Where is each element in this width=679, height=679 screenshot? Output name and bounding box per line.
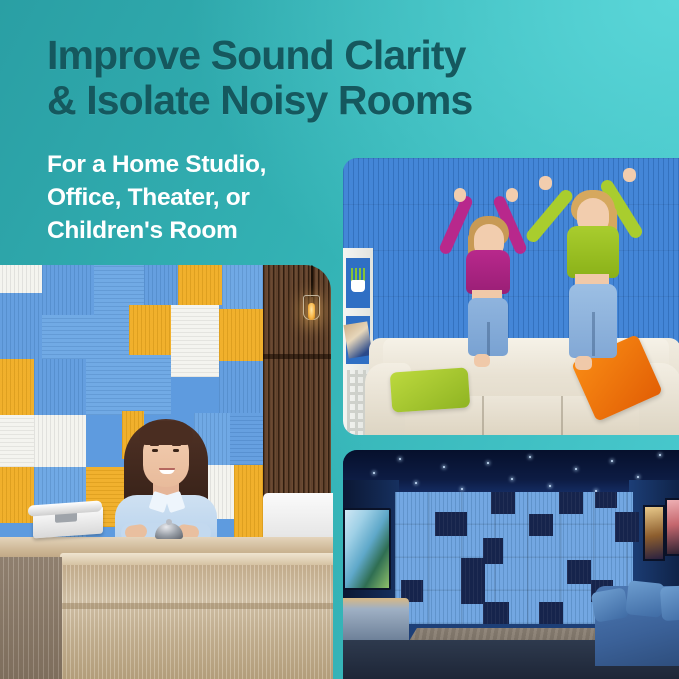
wall-mounted-tv xyxy=(343,508,391,590)
hero-text-block: Improve Sound Clarity & Isolate Noisy Ro… xyxy=(47,33,647,247)
dark-acoustic-tile xyxy=(491,492,515,514)
receptionist-fringe xyxy=(139,421,193,445)
ceiling-star xyxy=(399,458,401,460)
child-jeans xyxy=(569,284,617,358)
sofa-cushion xyxy=(660,585,679,621)
shelf-plant-pot xyxy=(351,280,365,292)
child-magenta-top xyxy=(466,250,510,294)
dark-acoustic-tile xyxy=(483,602,509,624)
reception-desk-ledge xyxy=(60,553,333,565)
dark-acoustic-tile xyxy=(539,602,563,624)
ceiling-star xyxy=(443,466,445,468)
ceiling-star xyxy=(575,468,577,470)
acoustic-tile xyxy=(129,305,171,355)
movie-poster xyxy=(665,498,679,556)
green-pillow xyxy=(390,367,471,412)
dark-acoustic-tile xyxy=(435,512,467,536)
sofa-cushion xyxy=(625,580,664,618)
ceiling-star xyxy=(373,472,375,474)
wood-column-seam xyxy=(263,354,331,359)
sofa-cushion xyxy=(591,587,630,622)
receptionist-eye xyxy=(152,449,158,452)
pendant-lamp-cord xyxy=(311,265,313,297)
page-subtitle: For a Home Studio, Office, Theater, or C… xyxy=(47,148,647,247)
ceiling-star xyxy=(415,482,417,484)
acoustic-tile xyxy=(234,465,263,537)
office-reception-photo xyxy=(0,265,333,679)
acoustic-tile xyxy=(34,415,86,467)
dark-acoustic-tile xyxy=(595,492,617,508)
acoustic-tile xyxy=(42,315,129,359)
acoustic-tile xyxy=(86,355,171,415)
child-jeans xyxy=(468,298,508,356)
ceiling-star xyxy=(511,478,513,480)
receptionist-eyebrow xyxy=(150,444,159,446)
page-title: Improve Sound Clarity & Isolate Noisy Ro… xyxy=(47,33,647,123)
dark-acoustic-tile xyxy=(567,560,591,584)
home-theater-photo xyxy=(343,450,679,679)
acoustic-tile xyxy=(230,413,263,465)
acoustic-tile xyxy=(222,265,264,313)
child-foot xyxy=(575,356,592,370)
dark-acoustic-tile xyxy=(559,492,583,514)
media-console xyxy=(343,598,409,640)
acoustic-tile xyxy=(178,265,222,305)
movie-poster xyxy=(643,505,665,561)
acoustic-tile xyxy=(0,293,42,359)
acoustic-tile xyxy=(0,359,34,415)
receptionist-eye xyxy=(173,449,179,452)
dark-acoustic-tile xyxy=(483,538,503,564)
ceiling-star xyxy=(529,456,531,458)
office-floor xyxy=(0,557,62,679)
acoustic-tile xyxy=(219,361,263,415)
acoustic-tile xyxy=(34,359,86,415)
dark-acoustic-tile xyxy=(461,558,485,604)
ceiling-star xyxy=(461,488,463,490)
acoustic-tile xyxy=(219,309,263,361)
dark-acoustic-tile xyxy=(529,514,553,536)
reception-monitor xyxy=(263,493,333,541)
receptionist-eyebrow xyxy=(172,444,181,446)
acoustic-tile xyxy=(171,305,219,377)
child-foot xyxy=(474,354,490,367)
acoustic-tile xyxy=(42,265,94,315)
reception-desk-band xyxy=(60,603,333,609)
ceiling-star xyxy=(611,460,613,462)
pendant-lamp-bulb xyxy=(308,303,315,320)
ceiling-star xyxy=(549,485,551,487)
ceiling-star xyxy=(659,454,661,456)
acoustic-tile xyxy=(0,265,42,293)
ceiling-star xyxy=(487,462,489,464)
dark-acoustic-tile xyxy=(615,512,639,542)
acoustic-tile xyxy=(0,415,34,467)
ceiling-star xyxy=(637,476,639,478)
